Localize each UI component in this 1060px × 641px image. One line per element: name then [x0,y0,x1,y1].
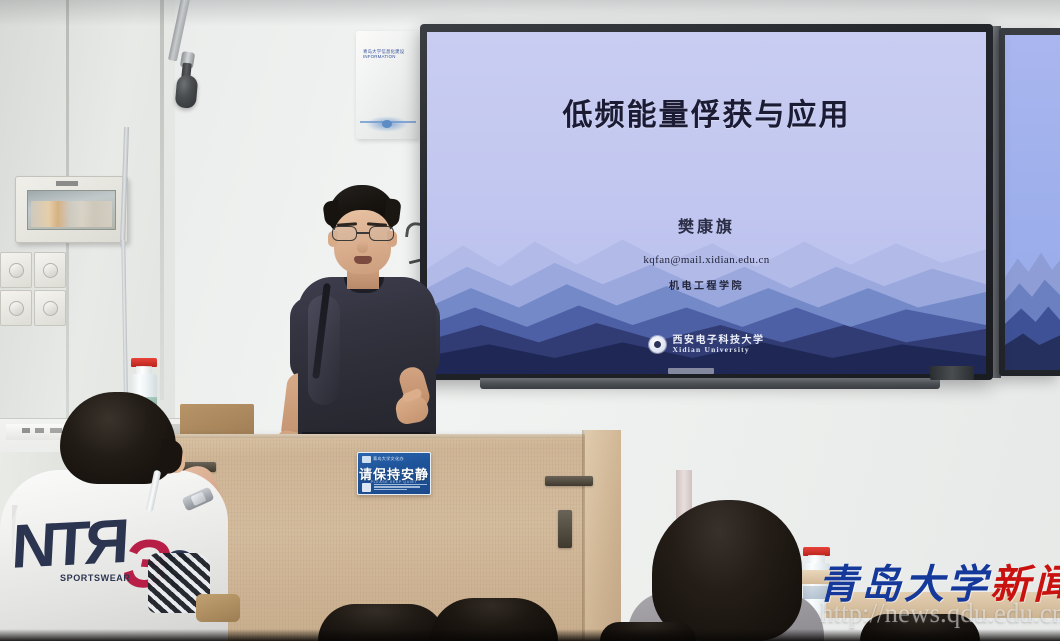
switch-plate[interactable] [34,252,66,288]
presenter-mouth [354,256,372,264]
presenter [250,185,470,455]
quiet-sign-org: 青岛大学文化办 [373,456,404,462]
glasses-bridge [357,232,369,234]
switch-plate[interactable] [0,290,32,326]
wall-mounted-control-unit[interactable]: 青岛大学信息化建设INFORMATION CENTER [356,31,420,139]
panel-window [27,190,116,230]
university-logo: 西安电子科技大学 Xidian University [427,336,986,354]
chair-armrest [196,594,240,622]
lecture-photo-scene: 青岛大学信息化建设INFORMATION CENTER [0,0,1060,641]
university-name-en: Xidian University [673,346,765,354]
display-secondary[interactable] [999,28,1060,376]
quiet-sign-header: 青岛大学文化办 [362,456,404,463]
foreground-shadow [0,629,1060,641]
quiet-sign-fineprint [374,484,427,492]
display-secondary-screen [1005,35,1060,370]
wall-switch-plates[interactable] [0,252,66,326]
wall-device-label: 青岛大学信息化建设INFORMATION CENTER [363,49,411,60]
slide-email: kqfan@mail.xidian.edu.cn [427,254,986,266]
panel-interior [31,201,112,227]
glasses-lens-right [369,226,394,241]
quiet-sign-qr-icon [362,483,371,492]
lectern-hinge [545,476,593,486]
switch-plate[interactable] [34,290,66,326]
ceiling-shadow [0,0,1060,26]
audience-member-right-head [652,500,802,641]
microphone-icon [175,74,199,109]
presenter-nose [357,241,368,253]
quiet-sign-badge-icon [362,456,371,463]
display-main[interactable]: 低频能量俘获与应用 樊康旗 kqfan@mail.xidian.edu.cn 机… [420,24,993,380]
lectern-hinge [558,510,572,548]
university-emblem-icon [649,336,666,353]
slide-presenter-name: 樊康旗 [427,213,986,237]
glasses-icon [332,226,394,241]
quiet-sign: 青岛大学文化办 请保持安静 PLEASE KEEP QUIET [357,452,431,495]
wall-seam-secondary [160,0,164,400]
slide-department: 机电工程学院 [427,277,986,292]
electrical-panel-box [15,176,128,243]
shirt-subtext: SPORTSWEAR [60,574,131,583]
presentation-slide: 低频能量俘获与应用 樊康旗 kqfan@mail.xidian.edu.cn 机… [427,32,986,374]
slide-mountains-secondary [1005,216,1060,370]
glasses-lens-left [332,226,357,241]
switch-plate[interactable] [0,252,32,288]
wall-device-logo-icon [363,115,411,133]
shirt-glyph-1: NTЯ [10,511,126,579]
slide-title: 低频能量俘获与应用 [427,90,986,134]
display-port-panel[interactable] [930,366,974,380]
quiet-sign-footer [362,483,427,492]
display-bottom-bar [480,378,940,389]
display-brand-label [668,368,714,374]
lectern-right-panel [585,430,621,641]
university-logo-text: 西安电子科技大学 Xidian University [673,336,765,354]
panel-label [56,181,78,186]
